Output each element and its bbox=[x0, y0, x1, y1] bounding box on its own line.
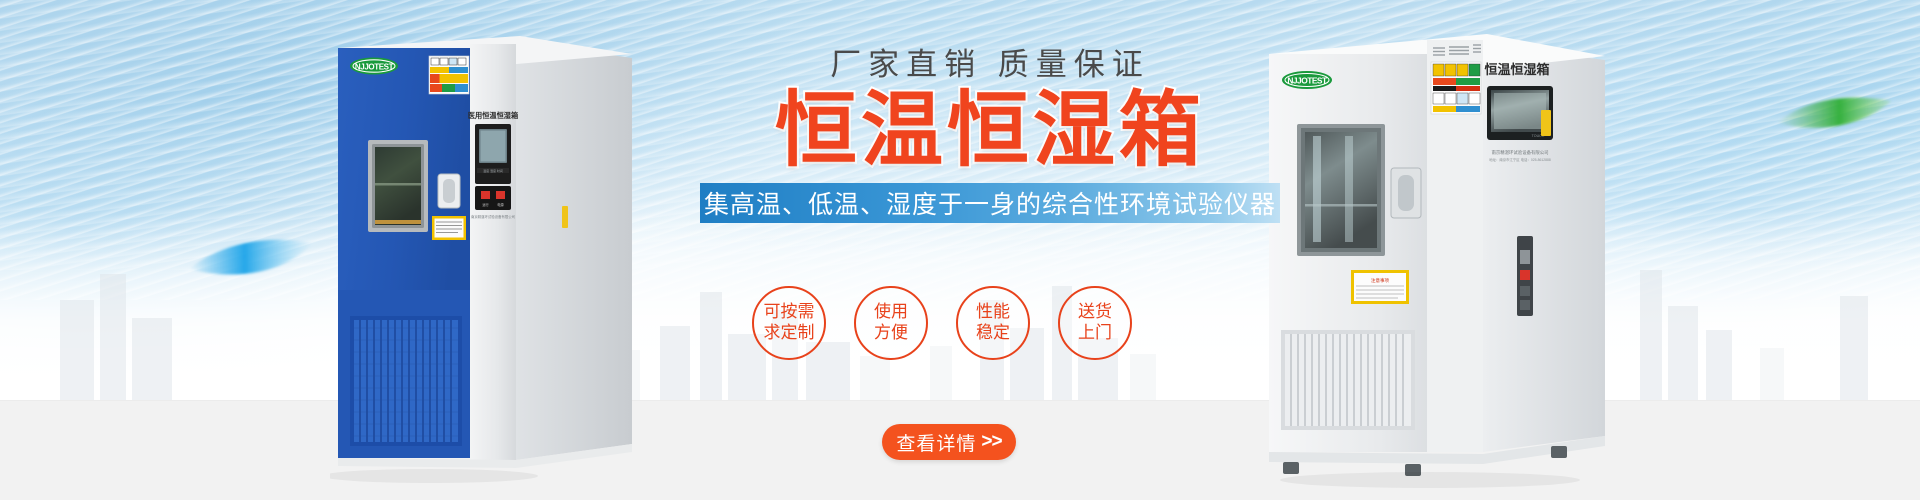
panel-title-right: 恒温恒湿箱 bbox=[1484, 62, 1549, 77]
feature-line-1: 性能 bbox=[976, 302, 1010, 323]
brand-logo-left: NJJOTEST bbox=[350, 58, 398, 75]
caster-foot bbox=[1551, 446, 1567, 458]
subtitle-bar: 集高温、低温、湿度于一身的综合性环境试验仪器 bbox=[700, 183, 1280, 223]
feature-line-1: 送货 bbox=[1078, 302, 1112, 323]
leaf-blue-icon bbox=[185, 235, 325, 287]
warning-sticker-left bbox=[429, 56, 469, 94]
svg-text:NJJOTEST: NJJOTEST bbox=[355, 62, 394, 71]
control-panel-left: 医用恒温恒湿箱 温度 湿度 时间 运行 电源 南京精湛环试验设备有限公司 bbox=[468, 111, 518, 219]
svg-text:注意事项: 注意事项 bbox=[1371, 277, 1389, 284]
feature-circle-easy-use[interactable]: 使用 方便 bbox=[854, 286, 928, 360]
machine-right-gray-chamber: NJJOTEST 注意事项 bbox=[1255, 18, 1605, 490]
svg-text:电源: 电源 bbox=[497, 202, 504, 207]
feature-circle-delivery[interactable]: 送货 上门 bbox=[1058, 286, 1132, 360]
air-grille-right bbox=[1281, 330, 1415, 430]
warning-sticker-right bbox=[1431, 62, 1481, 114]
feature-circle-list: 可按需 求定制 使用 方便 性能 稳定 送货 上门 bbox=[752, 286, 1132, 360]
feature-line-2: 上门 bbox=[1078, 323, 1112, 344]
svg-text:NJJOTEST: NJJOTEST bbox=[1287, 76, 1328, 86]
leaf-green-icon bbox=[1775, 95, 1895, 139]
air-grille-left bbox=[350, 316, 462, 446]
svg-text:运行: 运行 bbox=[482, 202, 489, 207]
feature-line-2: 求定制 bbox=[764, 323, 815, 344]
promo-banner: NJJOTEST bbox=[0, 0, 1920, 500]
feature-line-2: 方便 bbox=[874, 323, 908, 344]
feature-circle-stable[interactable]: 性能 稳定 bbox=[956, 286, 1030, 360]
machine-left-blue-chamber: NJJOTEST bbox=[330, 28, 632, 490]
chevron-right-icon: >> bbox=[981, 431, 1001, 453]
page-title: 恒温恒湿箱 bbox=[690, 87, 1290, 176]
hazard-label-left bbox=[432, 216, 466, 240]
feature-line-2: 稳定 bbox=[976, 323, 1010, 344]
svg-text:南京精湛环试验设备有限公司: 南京精湛环试验设备有限公司 bbox=[471, 214, 515, 219]
caster-foot bbox=[1283, 462, 1299, 474]
hazard-label-right: 注意事项 bbox=[1351, 270, 1409, 304]
svg-text:地址：南京市江宁区 电话：025-8612888: 地址：南京市江宁区 电话：025-8612888 bbox=[1489, 157, 1551, 162]
side-control-strip bbox=[1517, 236, 1533, 316]
feature-line-1: 使用 bbox=[874, 302, 908, 323]
svg-text:医用恒温恒湿箱: 医用恒温恒湿箱 bbox=[468, 111, 518, 120]
cta-label: 查看详情 bbox=[896, 429, 976, 456]
tagline: 厂家直销 质量保证 bbox=[690, 46, 1290, 85]
view-details-button[interactable]: 查看详情 >> bbox=[882, 424, 1016, 460]
svg-text:温度 湿度 时间: 温度 湿度 时间 bbox=[483, 168, 503, 173]
copy-block: 厂家直销 质量保证 恒温恒湿箱 集高温、低温、湿度于一身的综合性环境试验仪器 bbox=[690, 46, 1290, 223]
svg-text:南京精湛环试验设备有限公司: 南京精湛环试验设备有限公司 bbox=[1491, 149, 1548, 156]
feature-line-1: 可按需 bbox=[764, 302, 815, 323]
feature-circle-custom[interactable]: 可按需 求定制 bbox=[752, 286, 826, 360]
